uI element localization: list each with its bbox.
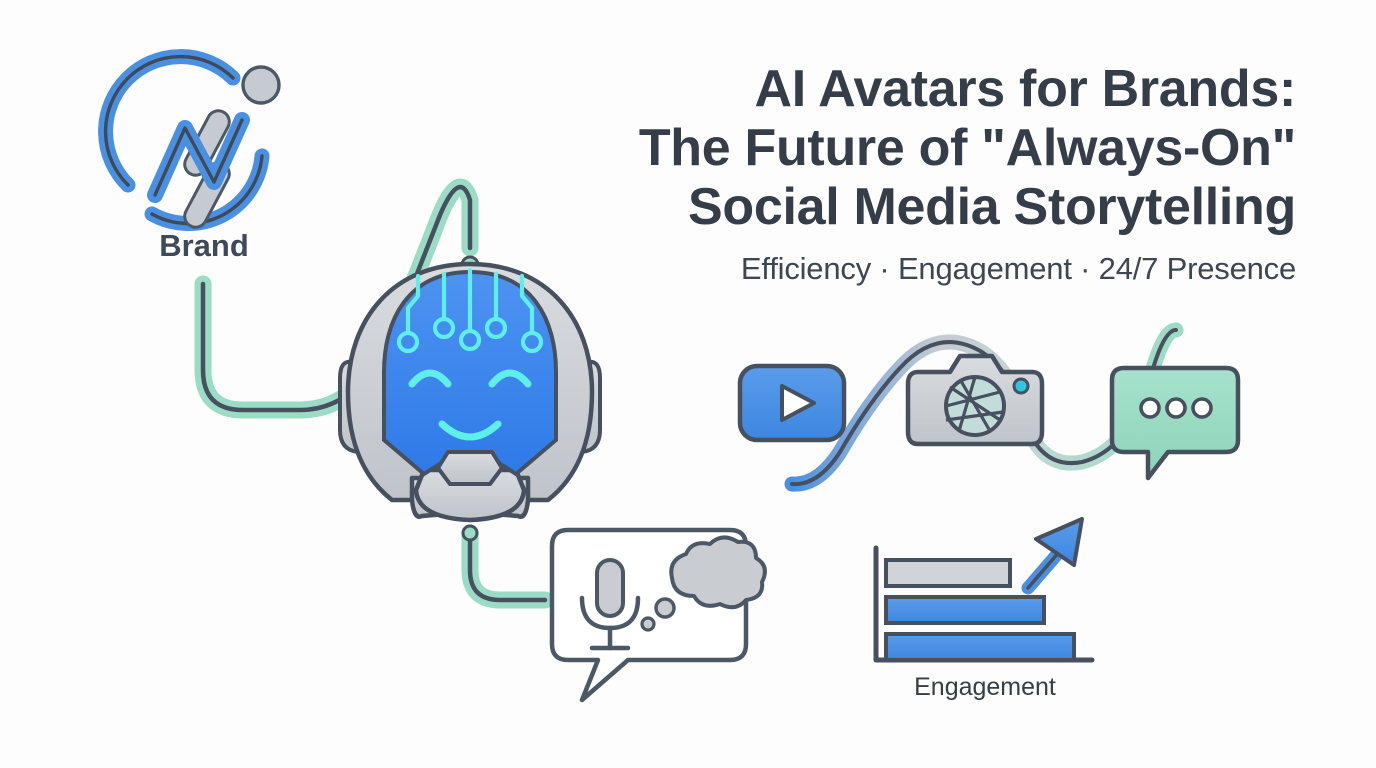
robot-head-icon <box>340 264 600 520</box>
chart-bar <box>886 597 1044 623</box>
engagement-chart <box>876 519 1092 660</box>
brand-swoosh-logo-icon <box>106 57 279 232</box>
chart-bar <box>886 560 1010 586</box>
engagement-chart-label: Engagement <box>885 673 1085 702</box>
slide-canvas: AI Avatars for Brands: The Future of "Al… <box>0 0 1376 768</box>
page-subtitle: Efficiency · Engagement · 24/7 Presence <box>520 249 1296 289</box>
chart-bar <box>886 634 1074 660</box>
brand-label: Brand <box>148 228 260 264</box>
speech-bubble-icon[interactable] <box>552 530 765 700</box>
title-block: AI Avatars for Brands: The Future of "Al… <box>520 60 1296 289</box>
camera-icon[interactable] <box>908 356 1042 444</box>
page-title-line-3: Social Media Storytelling <box>520 178 1296 237</box>
page-title-line-2: The Future of "Always-On" <box>520 119 1296 178</box>
page-title-line-1: AI Avatars for Brands: <box>520 60 1296 119</box>
upward-trend-arrow-icon <box>1028 519 1082 588</box>
chat-bubble-icon[interactable] <box>1112 368 1238 478</box>
video-play-icon[interactable] <box>740 366 844 440</box>
